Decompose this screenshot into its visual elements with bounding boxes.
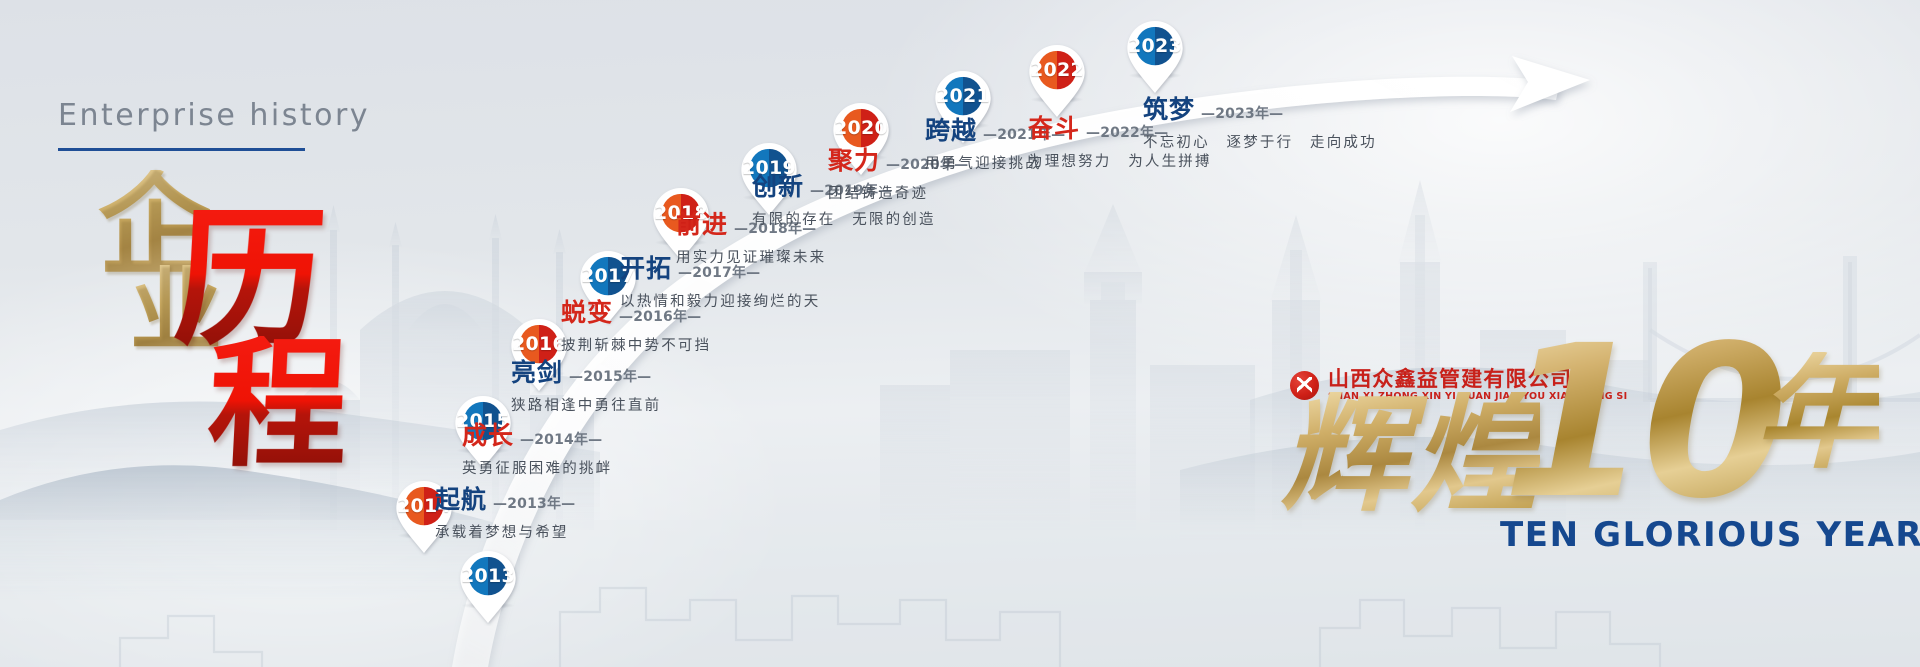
entry-description-2017: 以热情和毅力迎接绚烂的天 bbox=[620, 290, 820, 311]
entry-keyword-2015: 亮剑 bbox=[511, 353, 563, 389]
timeline-pin-2013[interactable]: 2013 bbox=[457, 548, 519, 630]
entry-description-2013: 承载着梦想与希望 bbox=[435, 521, 575, 542]
entry-keyword-2020: 聚力 bbox=[828, 141, 880, 177]
entry-keyword-2022: 奋斗 bbox=[1028, 109, 1080, 145]
entry-description-2015: 狭路相逢中勇往直前 bbox=[511, 394, 661, 415]
timeline-entry-2023[interactable]: 筑梦—2023年—不忘初心 逐梦于行 走向成功 bbox=[1143, 90, 1377, 152]
entry-description-2022: 为理想努力 为人生拼搏 bbox=[1028, 150, 1212, 171]
entry-description-2018: 用实力见证璀璨未来 bbox=[676, 246, 826, 267]
entry-keyword-2023: 筑梦 bbox=[1143, 90, 1195, 126]
timeline-pin-2023[interactable]: 2023 bbox=[1124, 18, 1186, 100]
map-pin-icon bbox=[457, 548, 519, 626]
poster-canvas: 2013 2014 2015 bbox=[0, 0, 1920, 667]
timeline-entry-2014[interactable]: 成长—2014年—英勇征服困难的挑衅 bbox=[462, 416, 612, 478]
celebration-headline-cn: 辉煌 bbox=[1280, 392, 1540, 520]
entry-keyword-2013: 起航 bbox=[435, 480, 487, 516]
entry-keyword-2021: 跨越 bbox=[925, 111, 977, 147]
entry-year-label-2015: —2015年— bbox=[569, 366, 651, 386]
entry-keyword-2018: 前进 bbox=[676, 205, 728, 241]
entry-year-label-2014: —2014年— bbox=[520, 429, 602, 449]
entry-description-2019: 有限的存在 无限的创造 bbox=[752, 208, 936, 229]
entry-keyword-2019: 创新 bbox=[752, 167, 804, 203]
entry-description-2023: 不忘初心 逐梦于行 走向成功 bbox=[1143, 131, 1377, 152]
entry-description-2014: 英勇征服困难的挑衅 bbox=[462, 457, 612, 478]
celebration-headline-suffix: 年 bbox=[1755, 352, 1879, 476]
entry-keyword-2014: 成长 bbox=[462, 416, 514, 452]
title-char-cheng: 程 bbox=[204, 336, 351, 476]
entry-year-label-2013: —2013年— bbox=[493, 493, 575, 513]
timeline-entry-2015[interactable]: 亮剑—2015年—狭路相逢中勇往直前 bbox=[511, 353, 661, 415]
entry-headline-row: 筑梦—2023年— bbox=[1143, 90, 1377, 126]
entry-headline-row: 起航—2013年— bbox=[435, 480, 575, 516]
entry-year-label-2023: —2023年— bbox=[1201, 103, 1283, 123]
entry-headline-row: 成长—2014年— bbox=[462, 416, 612, 452]
entry-headline-row: 亮剑—2015年— bbox=[511, 353, 661, 389]
entry-keyword-2017: 开拓 bbox=[620, 249, 672, 285]
entry-description-2016: 披荆斩棘中势不可挡 bbox=[561, 334, 711, 355]
entry-description-2020: 团结铸造奇迹 bbox=[828, 182, 968, 203]
page-title-english: Enterprise history bbox=[58, 98, 370, 133]
entry-keyword-2016: 蜕变 bbox=[561, 293, 613, 329]
map-pin-icon bbox=[1124, 18, 1186, 96]
timeline-entry-2013[interactable]: 起航—2013年—承载着梦想与希望 bbox=[435, 480, 575, 542]
celebration-subtitle-en: TEN GLORIOUS YEARS bbox=[1500, 515, 1920, 555]
celebration-number: 10 bbox=[1502, 318, 1782, 528]
page-title-chinese: 企 业 历 程 bbox=[70, 150, 400, 450]
